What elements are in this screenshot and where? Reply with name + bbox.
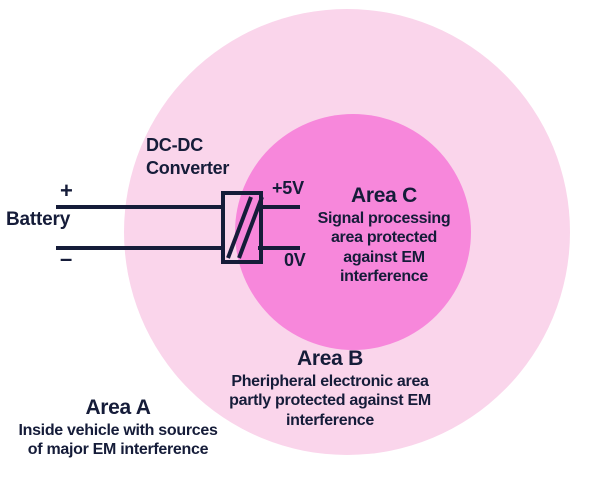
area-a-description: Inside vehicle with sources of major EM …	[0, 421, 236, 460]
area-b-description: Pheripheral electronic area partly prote…	[205, 372, 455, 431]
area-c-description: Signal processing area protected against…	[297, 209, 471, 287]
area-c-title: Area C	[297, 184, 471, 209]
area-a-title: Area A	[0, 396, 236, 421]
battery-positive-terminal-sign: +	[60, 178, 73, 203]
area-b-title: Area B	[205, 347, 455, 372]
area-a-caption: Area A Inside vehicle with sources of ma…	[0, 396, 236, 460]
em-interference-diagram: Battery + – DC-DC Converter +5V 0V Area …	[0, 0, 600, 488]
battery-label: Battery	[6, 209, 70, 231]
battery-negative-terminal-sign: –	[60, 246, 72, 271]
dc-dc-converter-label: DC-DC Converter	[146, 134, 229, 179]
area-c-caption: Area C Signal processing area protected …	[297, 184, 471, 287]
area-b-caption: Area B Pheripheral electronic area partl…	[205, 347, 455, 430]
